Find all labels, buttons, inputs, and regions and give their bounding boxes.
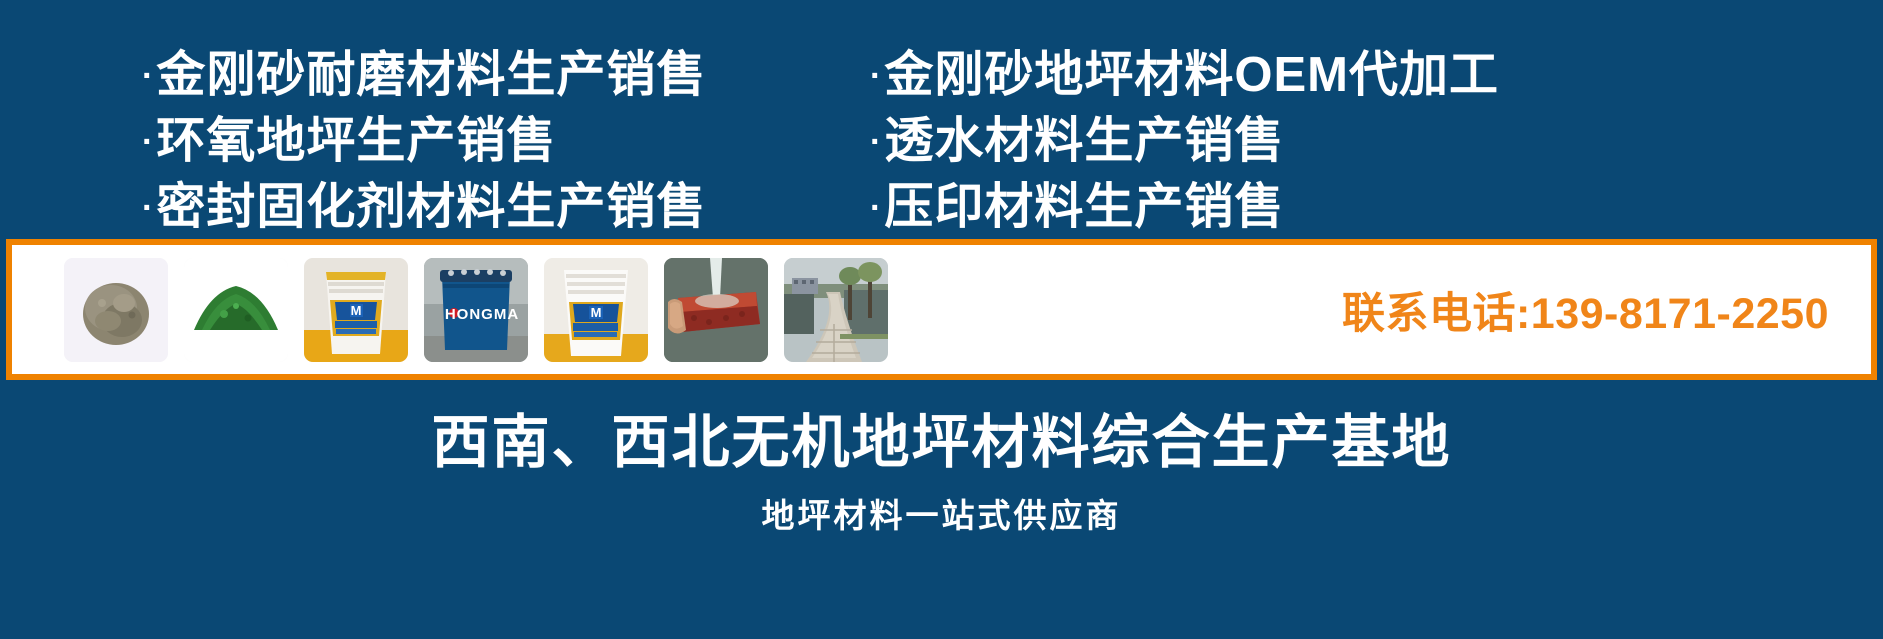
stamped-concrete-pathway-thumbnail [784,258,888,362]
bullet-dot-icon: · [142,178,154,239]
service-item: · 密封固化剂材料生产销售 [142,177,862,243]
service-item: · 压印材料生产销售 [870,177,1499,243]
service-item: · 透水材料生产销售 [870,111,1499,177]
concrete-sealer-bucket-thumbnail: M [304,258,408,362]
svg-text:M: M [591,305,602,320]
product-showcase-strip: M [6,239,1877,380]
service-item: · 金刚砂地坪材料OEM代加工 [870,45,1499,111]
headline-area: 西南、西北无机地坪材料综合生产基地 地坪材料一站式供应商 [0,390,1883,639]
sub-headline: 地坪材料一站式供应商 [762,492,1122,540]
service-item: · 环氧地坪生产销售 [142,111,862,177]
services-column-right: · 金刚砂地坪材料OEM代加工 · 透水材料生产销售 · 压印材料生产销售 [870,45,1499,243]
svg-text:HONGMA: HONGMA [445,306,519,323]
bullet-dot-icon: · [870,46,882,107]
bullet-dot-icon: · [142,46,154,107]
service-label: 金刚砂地坪材料OEM代加工 [884,45,1499,106]
service-label: 环氧地坪生产销售 [156,111,556,172]
permeable-concrete-sample-thumbnail [664,258,768,362]
hongma-steel-drum-thumbnail: HONGMA [424,258,528,362]
contact-phone[interactable]: 联系电话:139-8171-2250 [1342,279,1829,341]
advertising-banner: · 金刚砂耐磨材料生产销售 · 环氧地坪生产销售 · 密封固化剂材料生产销售 ·… [0,0,1883,639]
bullet-dot-icon: · [870,112,882,173]
main-headline: 西南、西北无机地坪材料综合生产基地 [431,404,1451,482]
service-label: 密封固化剂材料生产销售 [156,177,706,238]
green-abrasive-powder-thumbnail [184,258,288,362]
product-thumbnail-list: M [64,258,888,362]
service-label: 压印材料生产销售 [884,177,1284,238]
services-column-left: · 金刚砂耐磨材料生产销售 · 环氧地坪生产销售 · 密封固化剂材料生产销售 [142,45,862,243]
bullet-dot-icon: · [142,112,154,173]
bullet-dot-icon: · [870,178,882,239]
gray-abrasive-powder-thumbnail [64,258,168,362]
service-label: 金刚砂耐磨材料生产销售 [156,45,706,106]
service-item: · 金刚砂耐磨材料生产销售 [142,45,862,111]
epoxy-coating-bucket-thumbnail: M [544,258,648,362]
svg-text:M: M [351,303,362,318]
service-label: 透水材料生产销售 [884,111,1284,172]
